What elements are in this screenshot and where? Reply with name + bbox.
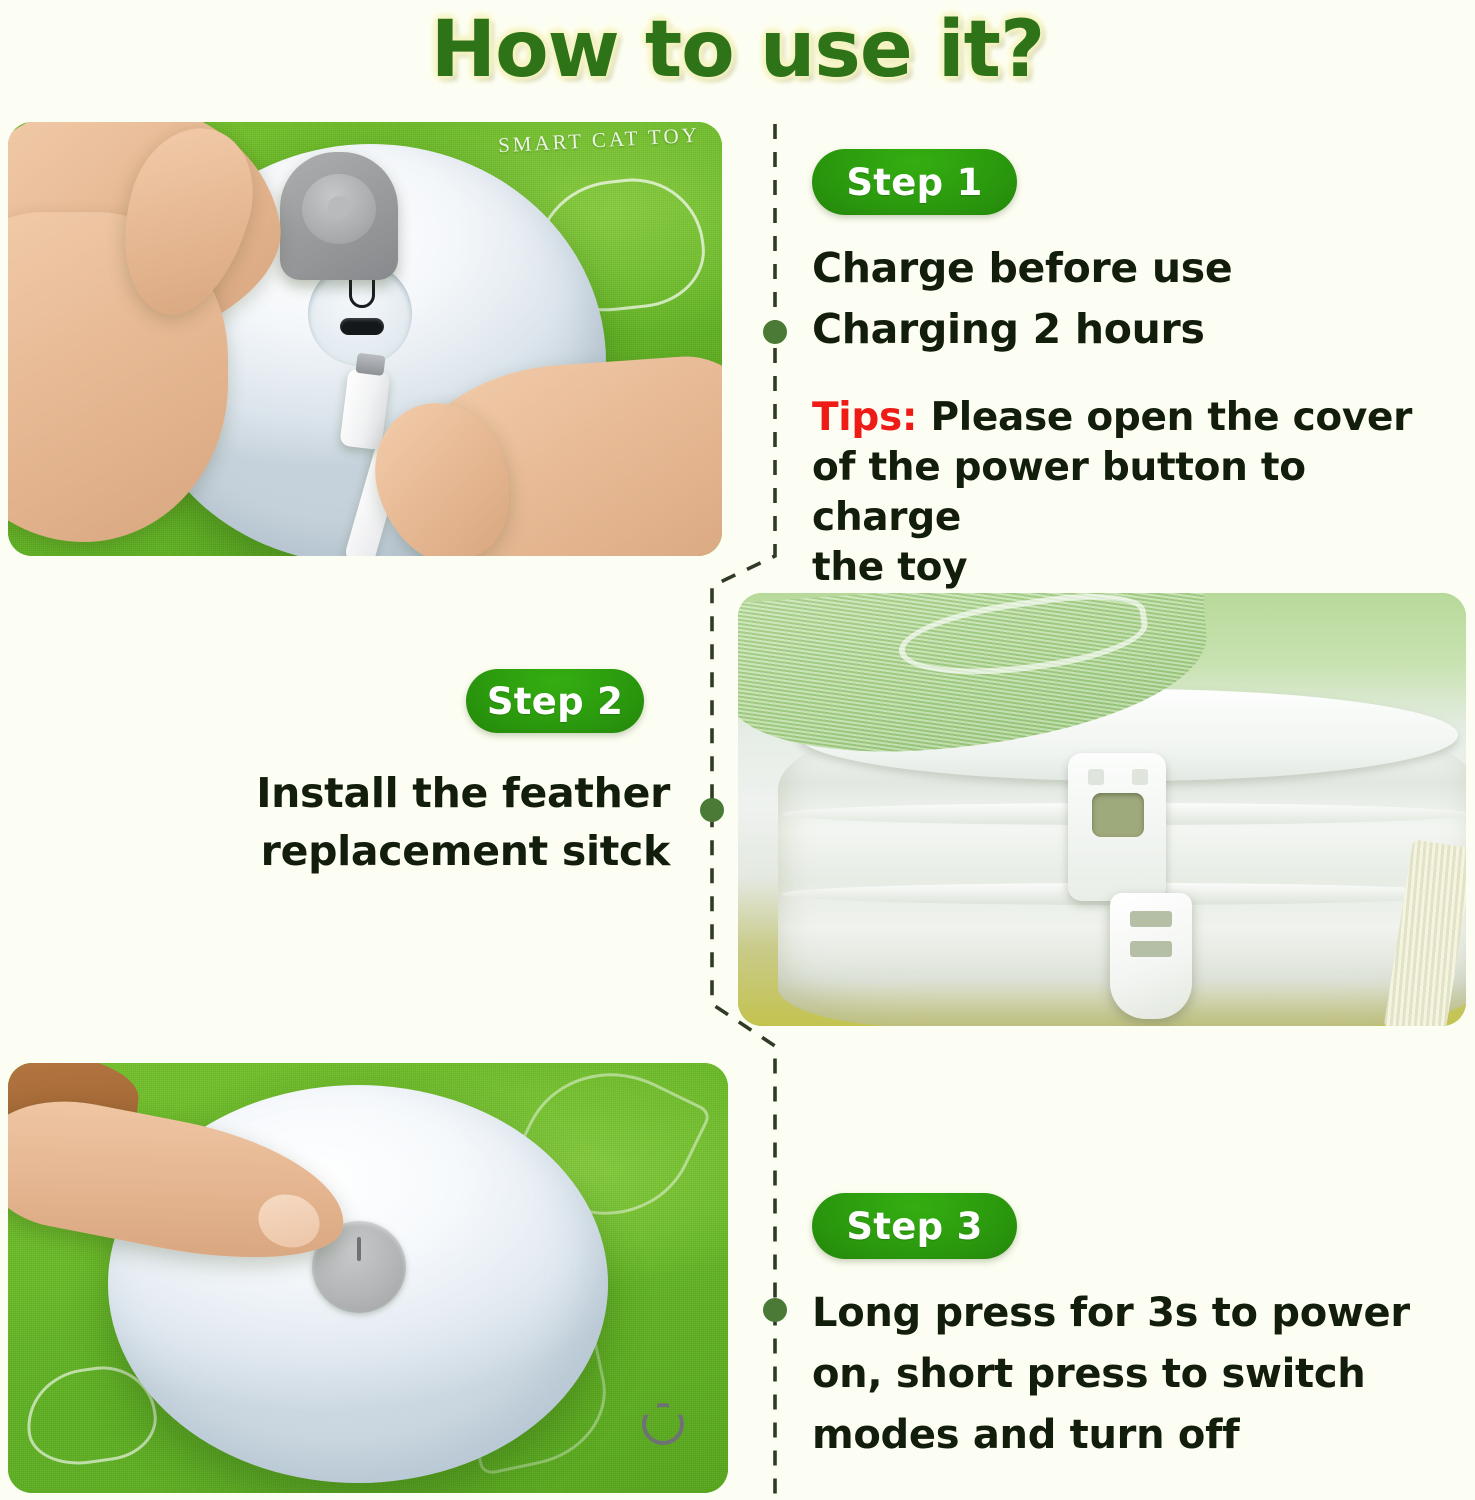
clip-photo: [738, 593, 1466, 1026]
step-1-line-2: Charging 2 hours: [812, 299, 1452, 360]
slot-tab-right: [1132, 769, 1148, 785]
power-button-photo: [8, 1063, 728, 1493]
step-3-text: Long press for 3s to power on, short pre…: [812, 1283, 1462, 1466]
tips-line-1-text: Please open the cover: [930, 395, 1412, 440]
connector-dot-step2: [700, 798, 724, 822]
page-title: How to use it?: [0, 4, 1475, 96]
grey-port-cover: [280, 152, 398, 280]
step-2-line-2: replacement sitck: [190, 822, 670, 880]
step-2-badge: Step 2: [466, 669, 644, 733]
buckle-slot-lower: [1130, 941, 1172, 957]
step-3-badge: Step 3: [812, 1193, 1017, 1259]
step-2-line-1: Install the feather: [190, 764, 670, 822]
step-2-text: Install the feather replacement sitck: [190, 764, 670, 880]
power-icon-bar: [357, 1237, 361, 1261]
tips-line-1: Tips: Please open the cover: [812, 393, 1467, 443]
step-3-line-2: on, short press to switch: [812, 1344, 1462, 1405]
tips-line-2: of the power button to charge: [812, 443, 1467, 543]
usb-c-port-icon: [340, 318, 384, 335]
cover-center-nub: [328, 196, 350, 218]
step-1-tips: Tips: Please open the cover of the power…: [812, 393, 1467, 593]
step-1-text: Charge before use Charging 2 hours: [812, 238, 1452, 360]
step-3-line-3: modes and turn off: [812, 1405, 1462, 1466]
charging-photo: SMART CAT TOY: [8, 122, 722, 556]
tips-line-3: the toy: [812, 543, 1467, 593]
step-3-line-1: Long press for 3s to power: [812, 1283, 1462, 1344]
slot-tab-left: [1088, 769, 1104, 785]
step-1-badge: Step 1: [812, 149, 1017, 215]
tips-label: Tips:: [812, 395, 917, 440]
buckle-slot-upper: [1130, 911, 1172, 927]
connector-dot-step3: [763, 1298, 787, 1322]
connector-dot-step1: [763, 320, 787, 344]
how-to-use-infographic: How to use it? SMART CAT TOY: [0, 0, 1475, 1500]
step-1-line-1: Charge before use: [812, 238, 1452, 299]
slot-opening: [1092, 793, 1144, 837]
